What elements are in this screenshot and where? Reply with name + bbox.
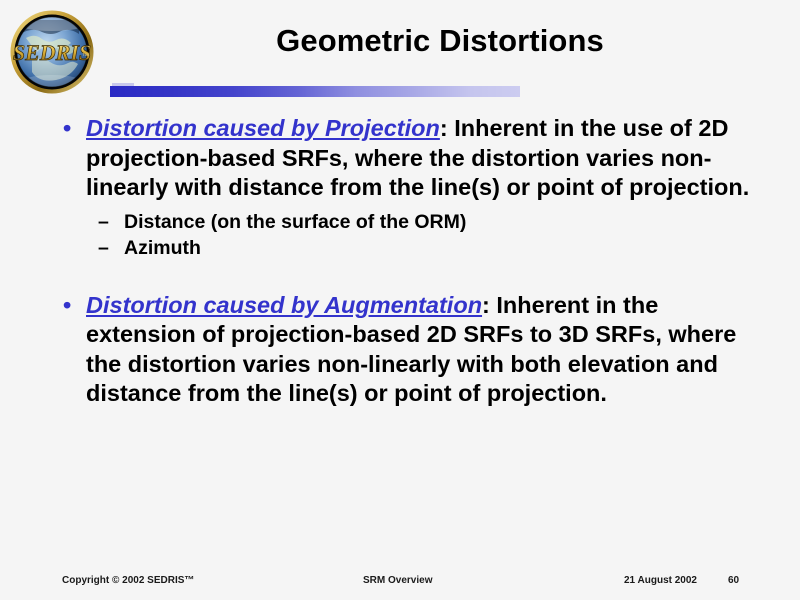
footer-copyright: Copyright © 2002 SEDRIS™ [62,575,194,586]
sub-bullet-text: Distance (on the surface of the ORM) [124,211,466,233]
bullet-emphasis-link[interactable]: Distortion caused by Augmentation [86,292,482,318]
sub-bullet-item: –Distance (on the surface of the ORM) [58,209,758,235]
sub-bullet-text: Azimuth [124,237,201,259]
logo-trademark-icon: ™ [82,53,89,60]
slide: SEDRIS ™ Geometric Distortions •Distorti… [0,0,800,600]
bullet-dot-icon: • [63,291,71,321]
sedris-globe-logo: SEDRIS ™ [8,8,96,96]
bullet-spacer [58,261,758,291]
dash-icon: – [98,235,109,261]
sub-bullet-item: –Azimuth [58,235,758,261]
bullet-item: •Distortion caused by Projection: Inhere… [58,114,758,203]
sub-bullet-list: –Distance (on the surface of the ORM) –A… [58,209,758,261]
divider-gradient-bar [110,86,520,97]
footer-page-number: 60 [728,575,739,586]
dash-icon: – [98,209,109,235]
logo-wordmark: SEDRIS [13,40,91,65]
footer-date: 21 August 2002 [624,575,697,586]
bullet-dot-icon: • [63,114,71,144]
footer-deck-name: SRM Overview [363,575,432,586]
slide-footer: Copyright © 2002 SEDRIS™ SRM Overview 21… [0,575,800,595]
slide-body: •Distortion caused by Projection: Inhere… [58,114,758,409]
bullet-emphasis-link[interactable]: Distortion caused by Projection [86,115,440,141]
bullet-item: •Distortion caused by Augmentation: Inhe… [58,291,758,409]
page-title: Geometric Distortions [110,22,770,60]
title-divider [110,83,520,97]
